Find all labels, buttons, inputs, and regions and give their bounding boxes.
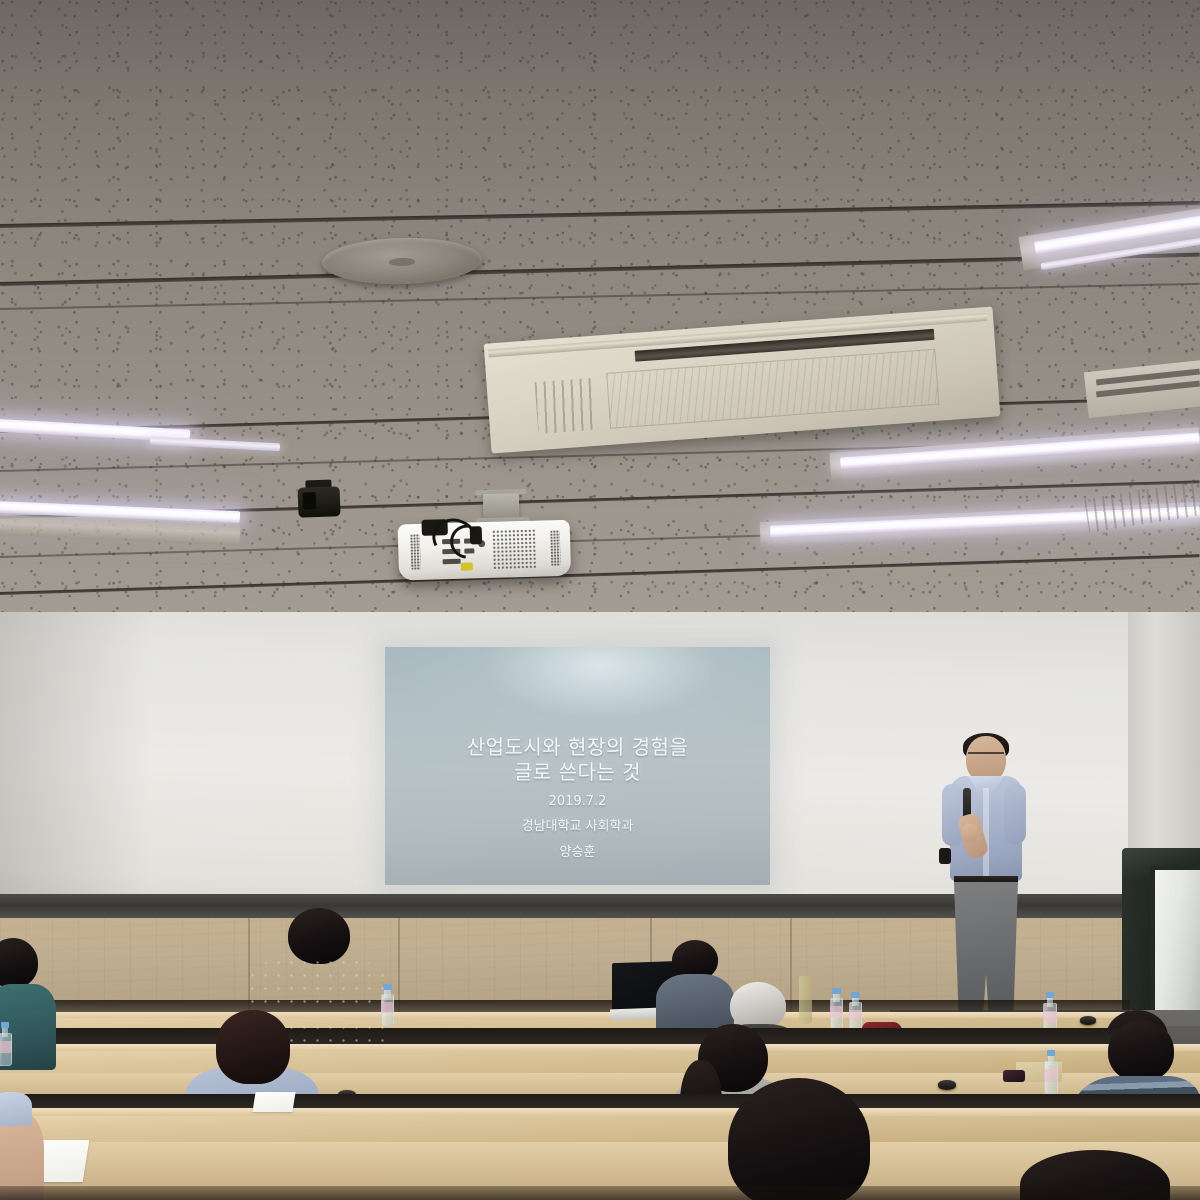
bottle-label — [0, 1041, 12, 1052]
audience-member-foreground-left — [0, 1092, 50, 1200]
projector-vent — [410, 534, 421, 570]
slide-date: 2019.7.2 — [385, 790, 770, 814]
slide-speaker-name: 양승훈 — [385, 840, 770, 866]
paper-handout — [252, 1092, 295, 1112]
ceiling-texture — [0, 0, 1200, 640]
projector-yellow-connector — [461, 562, 473, 570]
lecture-hall-photo: 산업도시와 현장의 경험을 글로 쓴다는 것 2019.7.2 경남대학교 사회… — [0, 0, 1200, 1200]
wall-shading — [0, 612, 150, 912]
attendee-head — [728, 1078, 870, 1200]
attendee-head — [1108, 1020, 1174, 1082]
bottle-cap — [1, 1022, 10, 1028]
ceiling — [0, 0, 1200, 640]
projector-exhaust-vent — [492, 529, 537, 570]
mobile-phone[interactable] — [1003, 1070, 1025, 1082]
audience-member-foreground-center — [700, 1078, 900, 1200]
presenter-left-arm — [942, 784, 964, 846]
bottle-label — [1044, 1069, 1058, 1080]
bottle-label — [830, 1006, 843, 1017]
attendee-head — [216, 1010, 290, 1084]
water-bottle — [849, 992, 862, 1032]
projection-screen: 산업도시와 현장의 경험을 글로 쓴다는 것 2019.7.2 경남대학교 사회… — [385, 647, 770, 885]
presenter-hand — [962, 824, 978, 842]
attendee-head — [730, 982, 786, 1030]
bottle-cap — [1046, 992, 1055, 998]
presentation-clicker — [939, 848, 951, 864]
presenter — [938, 736, 1034, 1036]
bottle-cap — [851, 992, 859, 998]
bottle-label — [1043, 1011, 1057, 1022]
presenter-glasses-icon — [968, 752, 1004, 759]
bottle-cap — [832, 988, 840, 994]
slide-content: 산업도시와 현장의 경험을 글로 쓴다는 것 2019.7.2 경남대학교 사회… — [385, 735, 770, 866]
attendee-sleeve — [0, 1092, 32, 1126]
water-bottle — [1044, 1050, 1058, 1094]
presenter-shirt-placket — [983, 788, 989, 876]
desk-microphone-puck — [938, 1080, 956, 1090]
water-bottle — [830, 988, 843, 1030]
projector-vent — [550, 530, 561, 566]
bottle-label — [849, 1010, 862, 1020]
camera-lens-icon — [303, 492, 317, 509]
slide-title-line-1: 산업도시와 현장의 경험을 — [385, 735, 770, 760]
ceiling-projector — [397, 488, 580, 589]
presenter-right-arm — [1004, 784, 1026, 844]
photo-bottom-vignette — [0, 1186, 1200, 1200]
ac-side-louver — [535, 378, 597, 434]
security-camera-icon — [297, 479, 340, 520]
slide-title-line-2: 글로 쓴다는 것 — [385, 760, 770, 785]
slide-organization: 경남대학교 사회학과 — [385, 814, 770, 840]
lectern-monitor — [1150, 866, 1200, 1016]
water-bottle — [0, 1022, 12, 1066]
glass-bottle — [799, 976, 812, 1024]
desk-top — [0, 1116, 1200, 1142]
bottle-cap — [1047, 1050, 1056, 1056]
attendee-head — [0, 938, 38, 988]
